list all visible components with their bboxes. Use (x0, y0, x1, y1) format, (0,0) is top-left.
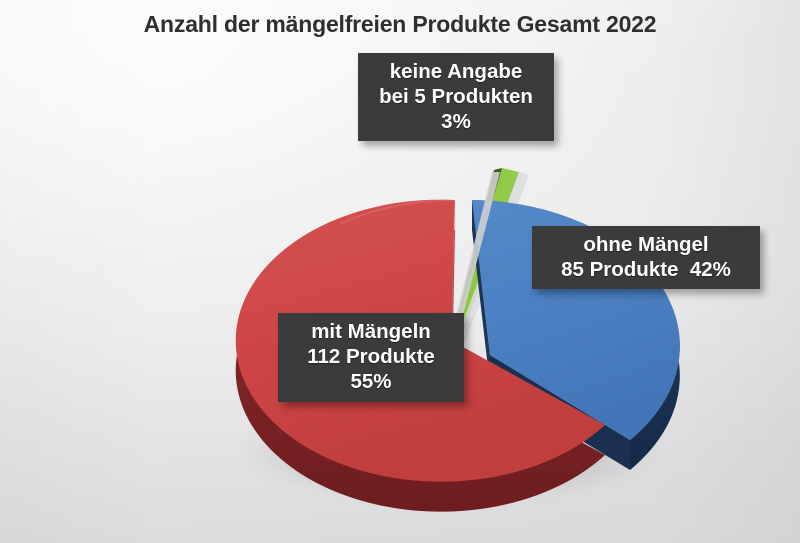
callout-ohne-maengel-line1: ohne Mängel (537, 232, 755, 257)
callout-mit-maengeln[interactable]: mit Mängeln 112 Produkte 55% (278, 313, 464, 402)
callout-keine-angabe-line2: bei 5 Produkten (364, 84, 548, 109)
callout-mit-maengeln-line1: mit Mängeln (284, 319, 458, 344)
callout-keine-angabe-line3: 3% (364, 109, 548, 134)
callout-mit-maengeln-line2: 112 Produkte (284, 344, 458, 369)
callout-ohne-maengel-line2: 85 Produkte 42% (537, 257, 755, 282)
callout-keine-angabe[interactable]: keine Angabe bei 5 Produkten 3% (358, 53, 554, 141)
callout-ohne-maengel[interactable]: ohne Mängel 85 Produkte 42% (532, 226, 760, 289)
callout-keine-angabe-line1: keine Angabe (364, 59, 548, 84)
callout-mit-maengeln-line3: 55% (284, 369, 458, 394)
chart-canvas: Anzahl der mängelfreien Produkte Gesamt … (0, 0, 800, 543)
